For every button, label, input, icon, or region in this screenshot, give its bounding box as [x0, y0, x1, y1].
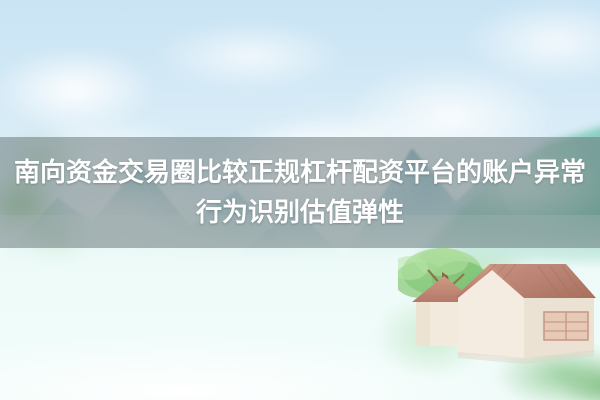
title-overlay-band: 南向资金交易圈比较正规杠杆配资平台的账户异常 行为识别估值弹性 [0, 137, 600, 248]
cloud-shape [430, 0, 600, 102]
banner-title: 南向资金交易圈比较正规杠杆配资平台的账户异常 行为识别估值弹性 [2, 153, 598, 233]
cloud-shape [0, 30, 190, 150]
house-window [544, 312, 588, 340]
banner-image: 南向资金交易圈比较正规杠杆配资平台的账户异常 行为识别估值弹性 [0, 0, 600, 400]
house-front [454, 264, 596, 364]
house-and-tree-illustration [398, 246, 600, 400]
cloud-shape [120, 8, 380, 104]
